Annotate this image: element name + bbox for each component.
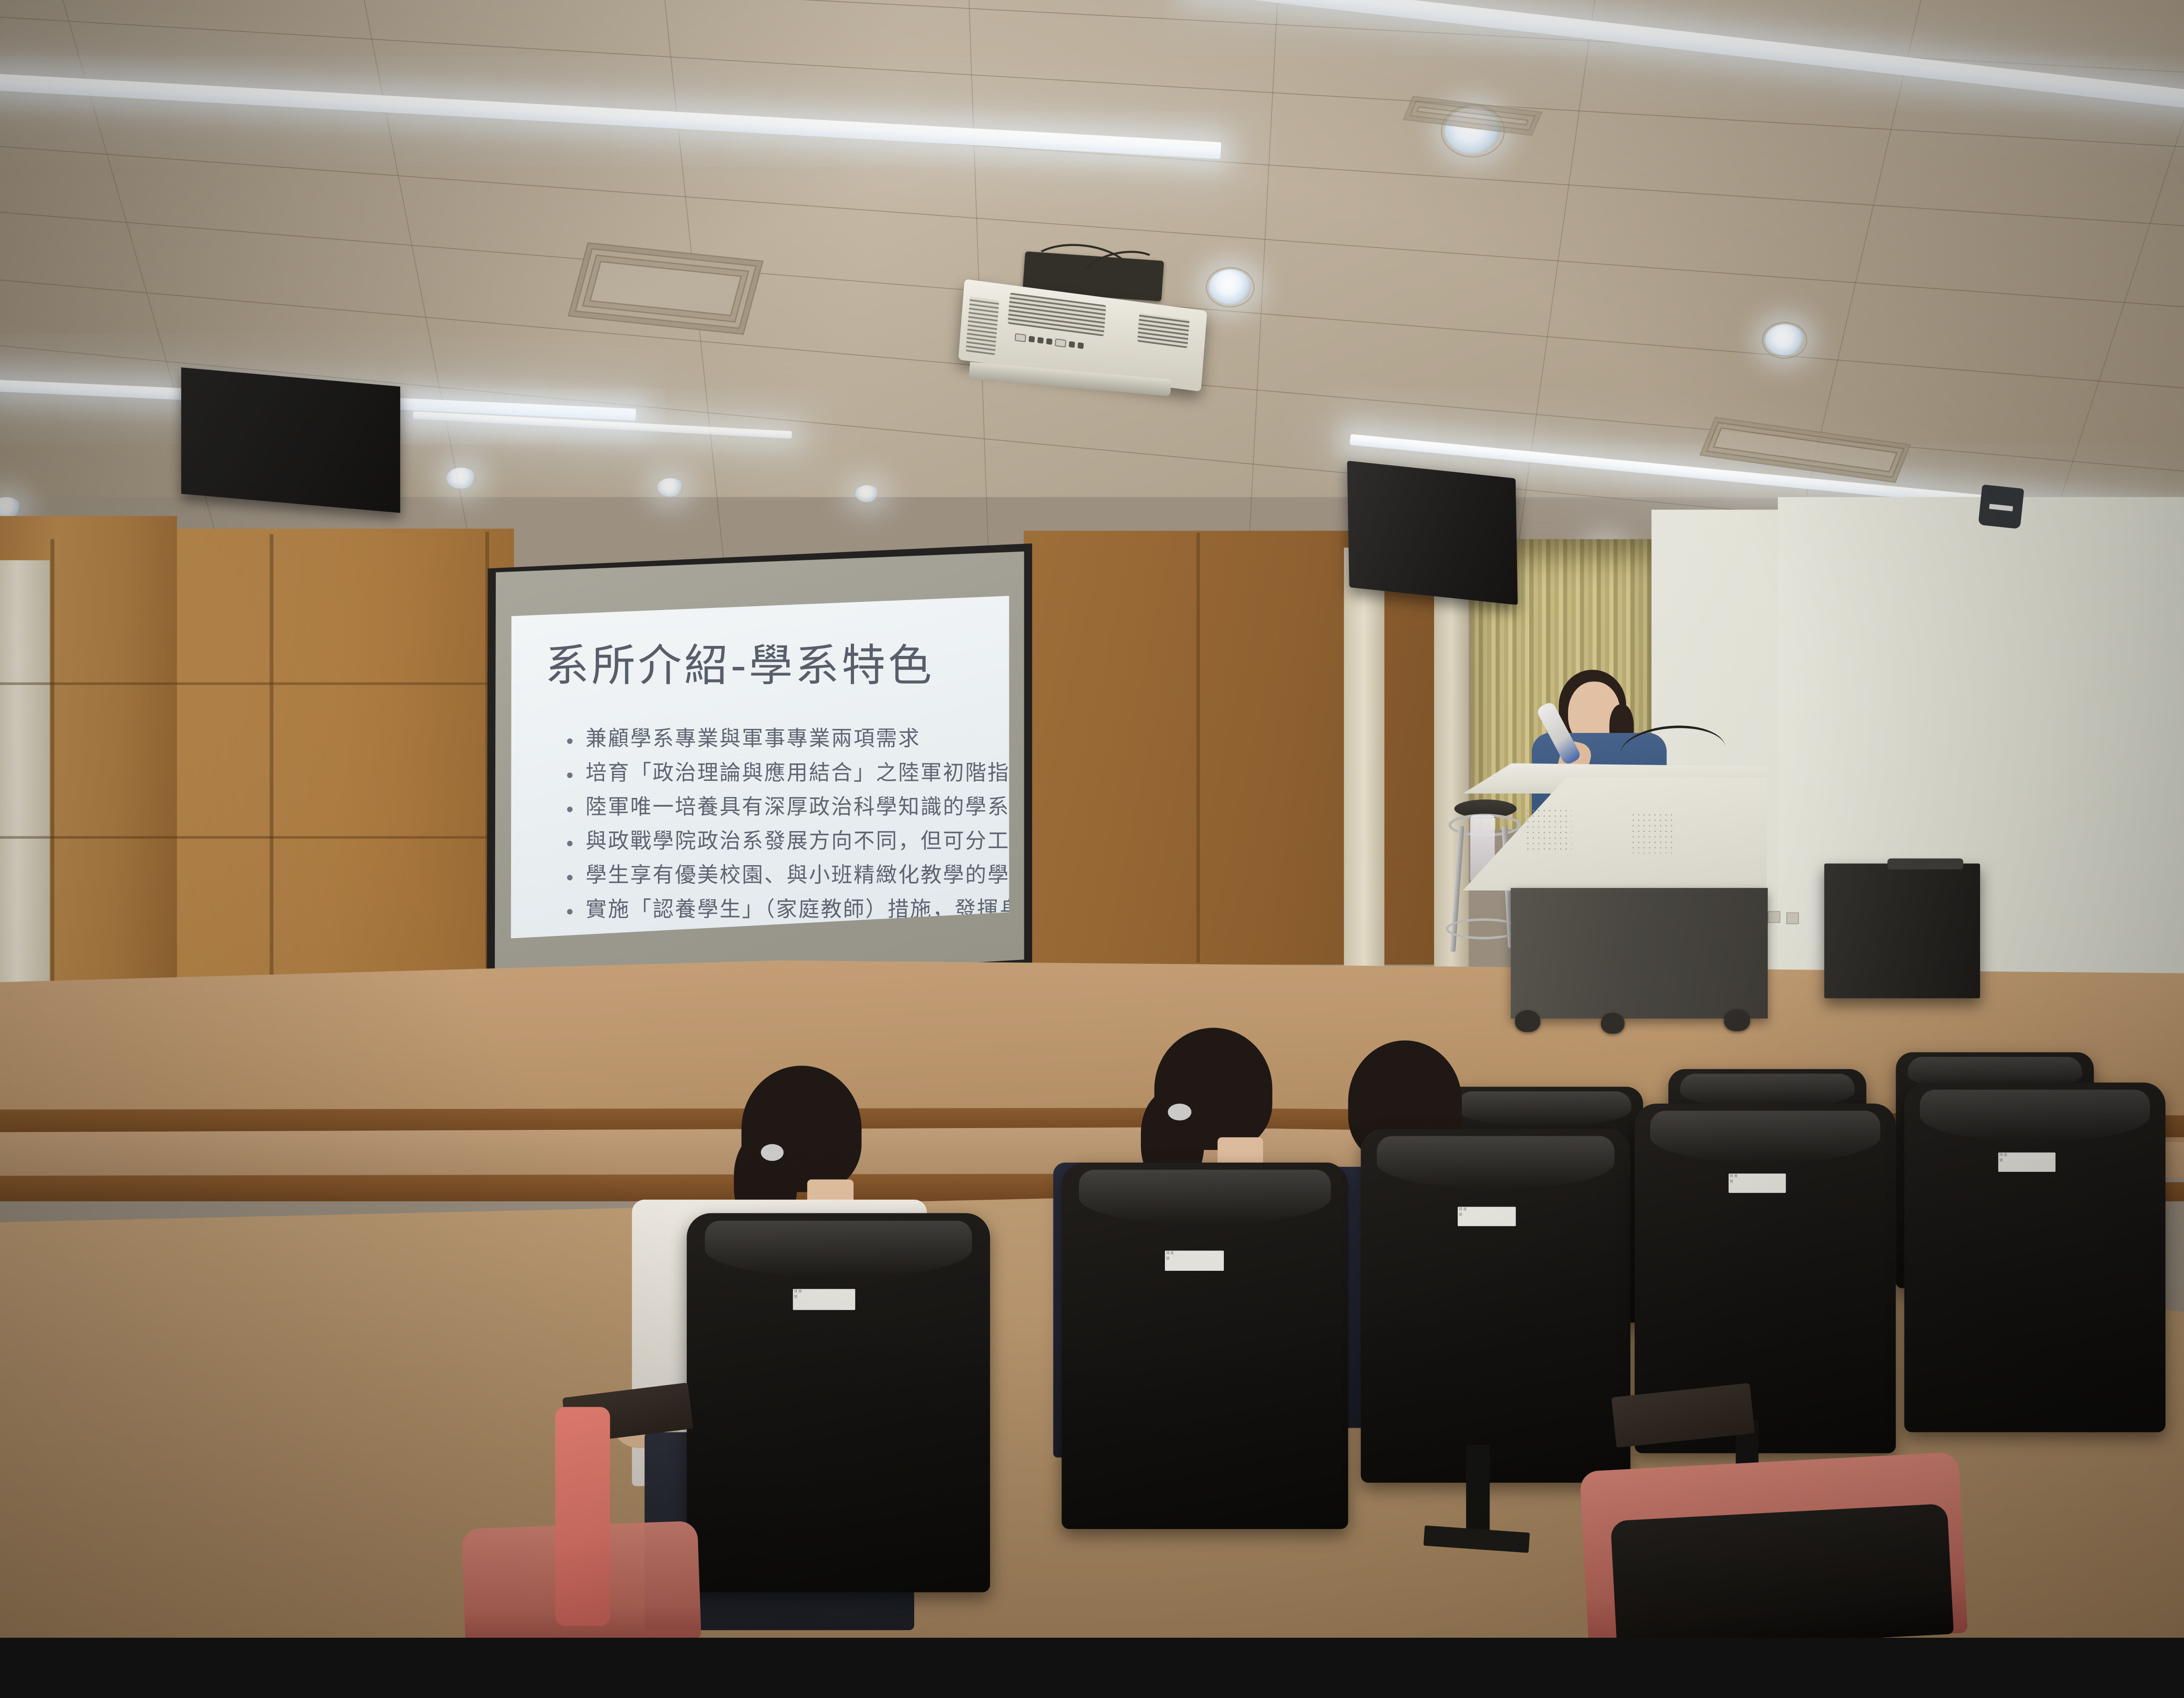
wall-outlet[interactable]	[1787, 912, 1799, 924]
slide-bullet: 陸軍唯一培養具有深厚政治科學知識的學系	[586, 790, 982, 824]
slide-bullet-list: 兼顧學系專業與軍事專業兩項需求 培育「政治理論與應用結合」之陸軍初階指揮軍官 陸…	[545, 721, 981, 926]
podium-caster	[1724, 1009, 1750, 1031]
slide-bullet: 與政戰學院政治系發展方向不同，但可分工合作相輔相成	[586, 824, 982, 858]
projector-vent	[1137, 313, 1189, 349]
seat-number-label: 排 座 號	[1165, 1250, 1224, 1270]
auditorium-photo: 系所介紹-學系特色 兼顧學系專業與軍事專業兩項需求 培育「政治理論與應用結合」之…	[0, 0, 2184, 1638]
seat-label-text: 號	[1729, 1179, 1780, 1184]
av-cabinet	[1824, 863, 1980, 998]
seat-number-label: 排 座 號	[1998, 1153, 2056, 1172]
podium-speaker-grille	[1525, 808, 1572, 850]
seat[interactable]: 排 座 號	[687, 1213, 990, 1592]
projector-vent	[1008, 293, 1106, 336]
pilaster-column	[1434, 543, 1469, 986]
seat-backrest-foreground[interactable]	[1610, 1504, 1954, 1638]
recessed-downlight	[657, 478, 684, 497]
column-speaker-right	[1347, 461, 1518, 605]
wall-panel-seam	[0, 683, 512, 685]
seat-headrest-highlight	[1920, 1090, 2149, 1142]
wall-speaker-corner	[1978, 484, 2025, 529]
wall-outlet[interactable]	[1768, 911, 1780, 923]
slide-content: 系所介紹-學系特色 兼顧學系專業與軍事專業兩項需求 培育「政治理論與應用結合」之…	[509, 593, 1011, 942]
seat-label-text: 號	[793, 1294, 849, 1300]
seat-headrest-highlight	[705, 1221, 972, 1277]
seat-label-text: 排 座	[1729, 1173, 1780, 1179]
wall-panel-seam	[1196, 533, 1200, 963]
slide-bullet: 兼顧學系專業與軍事專業兩項需求	[586, 721, 982, 756]
podium-caster	[1601, 1013, 1624, 1034]
seat-label-text: 排 座	[1165, 1250, 1218, 1256]
wall-panel-seam	[0, 836, 512, 839]
seat-headrest-highlight	[1650, 1111, 1880, 1163]
seat-pedestal	[1466, 1445, 1489, 1537]
podium-cabinet	[1511, 888, 1768, 1018]
seat-headrest-highlight	[1457, 1091, 1631, 1127]
recessed-downlight	[446, 468, 476, 489]
pilaster-column	[1344, 548, 1385, 981]
seat-label-text: 排 座	[1998, 1153, 2050, 1158]
seat-label-text: 號	[1165, 1256, 1218, 1261]
bar-stool-footring	[1446, 918, 1521, 939]
slide-title: 系所介紹-學系特色	[545, 643, 981, 689]
wall-panel-seam	[51, 539, 55, 1011]
downlight-rim	[1206, 267, 1254, 307]
downlight-rim	[1762, 322, 1807, 359]
seat-label-text: 排 座	[793, 1289, 849, 1294]
slide-bullet: 學生享有優美校園、與小班精緻化教學的學習環境	[586, 858, 982, 892]
slide-bullet: 培育「政治理論與應用結合」之陸軍初階指揮軍官	[586, 756, 982, 790]
seat-number-label: 排 座 號	[1729, 1173, 1786, 1193]
ceiling-speaker-left	[181, 367, 401, 513]
wall-panel-seam	[270, 534, 273, 1010]
seat-label-text: 排 座	[1458, 1207, 1510, 1212]
projected-slide: 系所介紹-學系特色 兼顧學系專業與軍事專業兩項需求 培育「政治理論與應用結合」之…	[509, 593, 1011, 942]
seat[interactable]: 排 座 號	[1904, 1083, 2166, 1432]
podium-caster	[1515, 1010, 1540, 1032]
podium-speaker-grille	[1631, 812, 1676, 854]
recessed-downlight	[855, 485, 879, 502]
seat[interactable]: 排 座 號	[1361, 1129, 1630, 1483]
seat[interactable]: 排 座 號	[1062, 1163, 1348, 1529]
recessed-downlight	[0, 497, 21, 518]
seat-label-text: 號	[1458, 1212, 1510, 1218]
hair-tie	[1168, 1104, 1192, 1121]
pilaster-column	[0, 560, 50, 1015]
seat-number-label: 排 座 號	[1458, 1207, 1516, 1226]
projector-vent	[966, 297, 999, 355]
av-cabinet-top-handle	[1887, 859, 1963, 870]
projector-port-panel	[1015, 333, 1084, 350]
wall-panel-wood-right	[1024, 531, 1454, 964]
hair-tie	[761, 1144, 784, 1161]
seat-label-text: 號	[1998, 1158, 2050, 1163]
seat-side-panel	[555, 1407, 610, 1626]
seat-headrest-highlight	[1377, 1136, 1614, 1189]
seat-headrest-highlight	[1079, 1170, 1331, 1225]
seat-number-label: 排 座 號	[793, 1289, 855, 1310]
